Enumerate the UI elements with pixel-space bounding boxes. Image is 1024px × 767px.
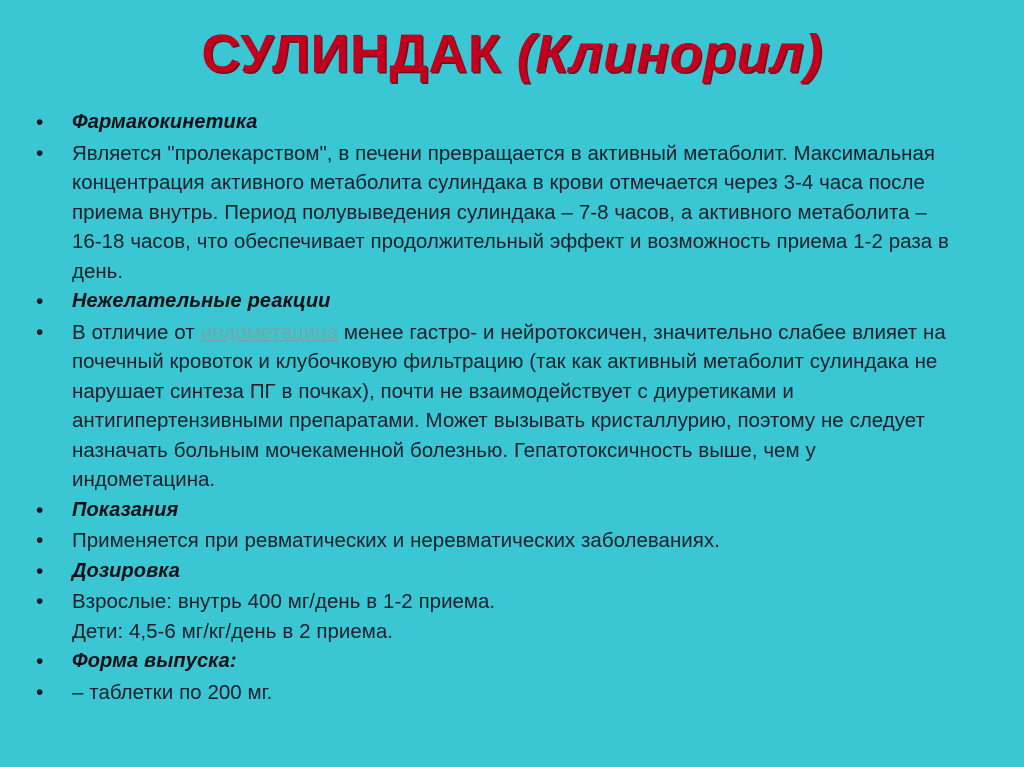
section-heading-dosage: Дозировка — [72, 557, 982, 587]
list-item: – таблетки по 200 мг. — [22, 678, 982, 708]
title-drug-name: СУЛИНДАК — [201, 24, 501, 84]
list-item: Нежелательные реакции — [22, 287, 982, 317]
presentation-slide: СУЛИНДАК (Клинорил) Фармакокинетика Явля… — [0, 0, 1024, 767]
list-item: Дозировка — [22, 557, 982, 587]
indomethacin-link[interactable]: индометацина — [201, 321, 338, 344]
list-item: Взрослые: внутрь 400 мг/день в 1-2 прием… — [22, 587, 982, 646]
list-item: Форма выпуска: — [22, 647, 982, 677]
bullet-icon — [22, 108, 72, 138]
section-heading-indications: Показания — [72, 496, 982, 526]
paragraph-adverse-reactions: В отличие от индометацина менее гастро- … — [72, 318, 962, 495]
dosage-children-line: Дети: 4,5-6 мг/кг/день в 2 приема. — [72, 617, 962, 647]
paragraph-dosage-form: – таблетки по 200 мг. — [72, 678, 962, 708]
bullet-icon — [22, 318, 72, 348]
bullet-icon — [22, 139, 72, 169]
list-item: Фармакокинетика — [22, 108, 982, 138]
slide-body-list: Фармакокинетика Является "пролекарством"… — [22, 108, 982, 708]
page-title: СУЛИНДАК (Клинорил) — [0, 26, 1024, 83]
paragraph-pharmacokinetics: Является "пролекарством", в печени превр… — [72, 139, 962, 287]
list-item: В отличие от индометацина менее гастро- … — [22, 318, 982, 495]
section-heading-pharmacokinetics: Фармакокинетика — [72, 108, 982, 138]
paragraph-indications: Применяется при ревматических и неревмат… — [72, 526, 962, 556]
paragraph-text-before-link: В отличие от — [72, 321, 201, 344]
list-item: Показания — [22, 496, 982, 526]
paragraph-dosage: Взрослые: внутрь 400 мг/день в 1-2 прием… — [72, 587, 962, 646]
title-brand-name: (Клинорил) — [517, 24, 823, 84]
list-item: Применяется при ревматических и неревмат… — [22, 526, 982, 556]
bullet-icon — [22, 678, 72, 708]
bullet-icon — [22, 287, 72, 317]
bullet-icon — [22, 526, 72, 556]
section-heading-dosage-form: Форма выпуска: — [72, 647, 982, 677]
bullet-icon — [22, 647, 72, 677]
paragraph-text-after-link: менее гастро- и нейротоксичен, значитель… — [72, 321, 946, 492]
bullet-icon — [22, 557, 72, 587]
list-item: Является "пролекарством", в печени превр… — [22, 139, 982, 287]
bullet-icon — [22, 587, 72, 617]
slide-title-block: СУЛИНДАК (Клинорил) — [0, 26, 1024, 83]
section-heading-adverse-reactions: Нежелательные реакции — [72, 287, 982, 317]
bullet-icon — [22, 496, 72, 526]
dosage-adults-line: Взрослые: внутрь 400 мг/день в 1-2 прием… — [72, 587, 962, 617]
